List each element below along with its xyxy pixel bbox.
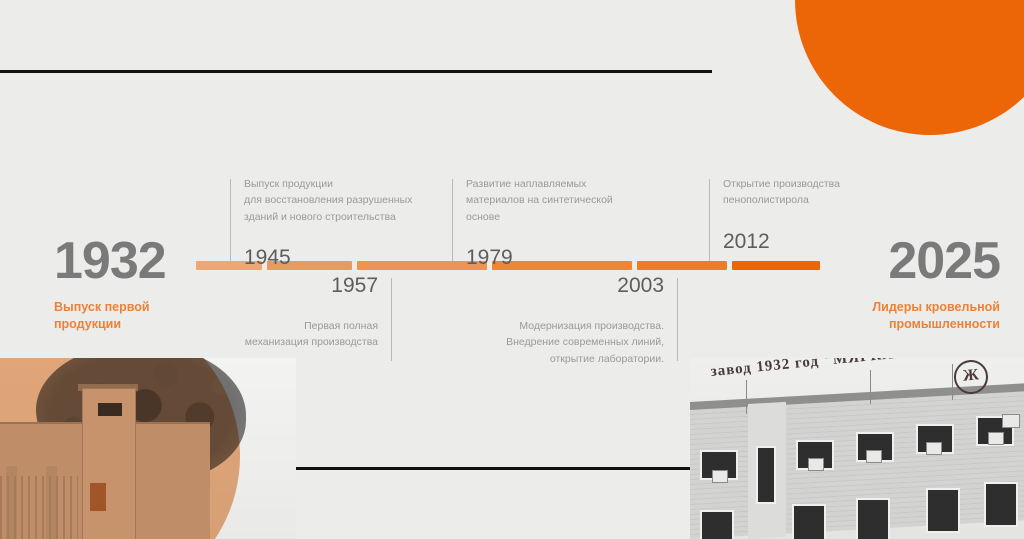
window bbox=[856, 498, 890, 539]
milestone-desc-line1: Развитие наплавляемых bbox=[466, 176, 613, 192]
milestone-desc-line2: материалов на синтетической bbox=[466, 192, 613, 208]
milestone-tick bbox=[709, 179, 710, 261]
top-divider-rule bbox=[0, 70, 712, 73]
milestone-year: 1957 bbox=[160, 275, 378, 296]
stairwell-window bbox=[756, 446, 776, 504]
photo-factory-facade: завод 1932 год "МЯГКАЯ КРОВЛЯ" Ж bbox=[690, 358, 1024, 539]
milestone-2012[interactable]: Открытие производства пенополистирола 20… bbox=[709, 176, 840, 252]
milestone-year: 2012 bbox=[723, 231, 840, 252]
end-year: 2025 bbox=[872, 235, 1000, 287]
milestone-tick bbox=[230, 179, 231, 261]
milestone-desc-line3: зданий и нового строительства bbox=[244, 209, 412, 225]
end-caption-line1: Лидеры кровельной bbox=[872, 299, 1000, 316]
air-conditioner bbox=[1002, 414, 1020, 428]
milestone-1957[interactable]: 1957 Первая полная механизация производс… bbox=[160, 275, 392, 351]
milestone-description: Модернизация производства. Внедрение сов… bbox=[440, 318, 664, 367]
start-caption-line2: продукции bbox=[54, 316, 166, 333]
air-conditioner bbox=[988, 432, 1004, 445]
start-caption-line1: Выпуск первой bbox=[54, 299, 166, 316]
milestone-tick bbox=[677, 278, 678, 361]
air-conditioner bbox=[866, 450, 882, 463]
milestone-desc-line3: основе bbox=[466, 209, 613, 225]
timeline-bar-segment-6 bbox=[732, 261, 820, 270]
milestone-desc-line1: Открытие производства bbox=[723, 176, 840, 192]
window bbox=[792, 504, 826, 539]
milestone-desc-line3: открытие лаборатории. bbox=[440, 351, 664, 367]
milestone-1945[interactable]: Выпуск продукции для восстановления разр… bbox=[230, 176, 412, 268]
milestone-description: Открытие производства пенополистирола bbox=[723, 176, 840, 209]
window bbox=[984, 482, 1018, 527]
milestone-description: Развитие наплавляемых материалов на синт… bbox=[466, 176, 613, 225]
milestone-desc-line2: Внедрение современных линий, bbox=[440, 334, 664, 350]
end-caption-line2: промышленности bbox=[872, 316, 1000, 333]
timeline-start-block: 1932 Выпуск первой продукции bbox=[54, 235, 166, 333]
milestone-desc-line1: Модернизация производства. bbox=[440, 318, 664, 334]
milestone-desc-line1: Выпуск продукции bbox=[244, 176, 412, 192]
orange-tint-overlay bbox=[0, 358, 240, 539]
milestone-tick bbox=[452, 179, 453, 261]
end-caption: Лидеры кровельной промышленности bbox=[872, 299, 1000, 333]
milestone-desc-line1: Первая полная bbox=[160, 318, 378, 334]
start-caption: Выпуск первой продукции bbox=[54, 299, 166, 333]
milestone-description: Выпуск продукции для восстановления разр… bbox=[244, 176, 412, 225]
orange-circle-decoration bbox=[795, 0, 1024, 135]
milestone-desc-line2: для восстановления разрушенных bbox=[244, 192, 412, 208]
milestone-year: 1979 bbox=[466, 247, 613, 268]
infographic-canvas: 1932 Выпуск первой продукции 2025 Лидеры… bbox=[0, 0, 1024, 539]
milestone-year: 2003 bbox=[440, 275, 664, 296]
air-conditioner bbox=[808, 458, 824, 471]
window bbox=[926, 488, 960, 533]
milestone-desc-line2: пенополистирола bbox=[723, 192, 840, 208]
milestone-2003[interactable]: 2003 Модернизация производства. Внедрени… bbox=[440, 275, 678, 367]
photo-old-factory-building bbox=[0, 358, 296, 539]
air-conditioner bbox=[712, 470, 728, 483]
milestone-description: Первая полная механизация производства bbox=[160, 318, 378, 351]
milestone-1979[interactable]: Развитие наплавляемых материалов на синт… bbox=[452, 176, 613, 268]
timeline-bar-segment-5 bbox=[637, 261, 727, 270]
window bbox=[700, 510, 734, 539]
timeline-end-block: 2025 Лидеры кровельной промышленности bbox=[872, 235, 1000, 333]
milestone-desc-line2: механизация производства bbox=[160, 334, 378, 350]
start-year: 1932 bbox=[54, 235, 166, 287]
milestone-year: 1945 bbox=[244, 247, 412, 268]
milestone-tick bbox=[391, 278, 392, 361]
air-conditioner bbox=[926, 442, 942, 455]
